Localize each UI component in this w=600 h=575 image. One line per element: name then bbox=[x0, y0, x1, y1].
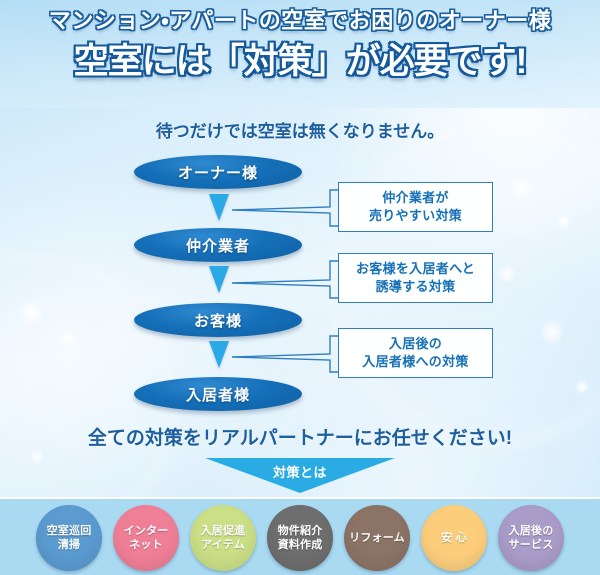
service-label: 安 心 bbox=[441, 531, 467, 545]
service-circle-vacancy-cleaning[interactable]: 空室巡回 清掃 bbox=[36, 505, 102, 571]
flow-node-label: 仲介業者 bbox=[186, 235, 250, 256]
flow-node-broker[interactable]: 仲介業者 bbox=[134, 228, 302, 262]
flow-node-tenant[interactable]: 入居者様 bbox=[134, 377, 302, 411]
service-line1: 入居後の bbox=[509, 525, 554, 537]
flow-node-owner[interactable]: オーナー様 bbox=[134, 155, 302, 189]
service-line2: ネット bbox=[129, 539, 163, 551]
service-label: 物件紹介 資料作成 bbox=[278, 524, 323, 552]
flow-node-label: お客様 bbox=[194, 310, 242, 331]
services-strip: 空室巡回 清掃 インター ネット 入居促進 アイテム 物件紹介 bbox=[0, 497, 600, 575]
callout-line1: 仲介業者が bbox=[382, 190, 449, 205]
service-label: 入居促進 アイテム bbox=[201, 524, 246, 552]
service-line2: アイテム bbox=[201, 539, 245, 551]
cta-message: 全ての対策をリアルパートナーにお任せください! bbox=[0, 423, 600, 450]
callout-line1: 入居後の bbox=[389, 336, 442, 351]
callout-line2: 入居者様への対策 bbox=[362, 354, 468, 369]
service-circle-reform[interactable]: リフォーム bbox=[344, 505, 410, 571]
banner-what-is-taisaku: 対策とは bbox=[205, 458, 395, 493]
callout-text: 入居後の 入居者様への対策 bbox=[362, 335, 468, 371]
service-circle-peace-of-mind[interactable]: 安 心 bbox=[421, 505, 487, 571]
callout-line2: 誘導する対策 bbox=[376, 279, 456, 294]
callout-text: お客様を入居者へと 誘導する対策 bbox=[356, 260, 475, 296]
callout-line1: お客様を入居者へと bbox=[356, 261, 475, 276]
service-line1: 物件紹介 bbox=[278, 525, 323, 537]
service-line2: サービス bbox=[509, 539, 554, 551]
flow-arrow-down-icon bbox=[209, 266, 229, 293]
service-line1: リフォーム bbox=[349, 532, 405, 544]
service-label: リフォーム bbox=[349, 531, 405, 545]
callout-text: 仲介業者が 売りやすい対策 bbox=[369, 189, 462, 225]
service-label: インター ネット bbox=[124, 524, 169, 552]
flow-node-customer[interactable]: お客様 bbox=[134, 303, 302, 337]
infographic-page: マンション・アパートの空室でお困りのオーナー様 空室には「対策」が必要です! 待… bbox=[0, 0, 600, 575]
flow-arrow-down-icon bbox=[209, 341, 229, 368]
callout-box-broker-strategy: 仲介業者が 売りやすい対策 bbox=[338, 182, 493, 232]
service-line1: 入居促進 bbox=[201, 525, 246, 537]
service-circle-occupancy-items[interactable]: 入居促進 アイテム bbox=[190, 505, 256, 571]
flow-node-label: オーナー様 bbox=[178, 162, 258, 183]
services-circle-list: 空室巡回 清掃 インター ネット 入居促進 アイテム 物件紹介 bbox=[0, 499, 600, 575]
service-circle-internet[interactable]: インター ネット bbox=[113, 505, 179, 571]
flow-arrow-down-icon bbox=[209, 194, 229, 221]
callout-line2: 売りやすい対策 bbox=[369, 208, 462, 223]
service-circle-property-documents[interactable]: 物件紹介 資料作成 bbox=[267, 505, 333, 571]
service-line2: 資料作成 bbox=[278, 539, 323, 551]
service-circle-after-move-in[interactable]: 入居後の サービス bbox=[498, 505, 564, 571]
flow-node-label: 入居者様 bbox=[186, 384, 250, 405]
banner-label: 対策とは bbox=[205, 462, 395, 481]
service-line1: インター bbox=[124, 525, 169, 537]
callout-box-customer-strategy: お客様を入居者へと 誘導する対策 bbox=[338, 253, 493, 303]
service-line1: 安 心 bbox=[441, 532, 467, 544]
callout-box-tenant-strategy: 入居後の 入居者様への対策 bbox=[338, 328, 493, 378]
service-label: 入居後の サービス bbox=[509, 524, 554, 552]
service-line2: 清掃 bbox=[58, 539, 80, 551]
service-label: 空室巡回 清掃 bbox=[47, 524, 92, 552]
service-line1: 空室巡回 bbox=[47, 525, 92, 537]
